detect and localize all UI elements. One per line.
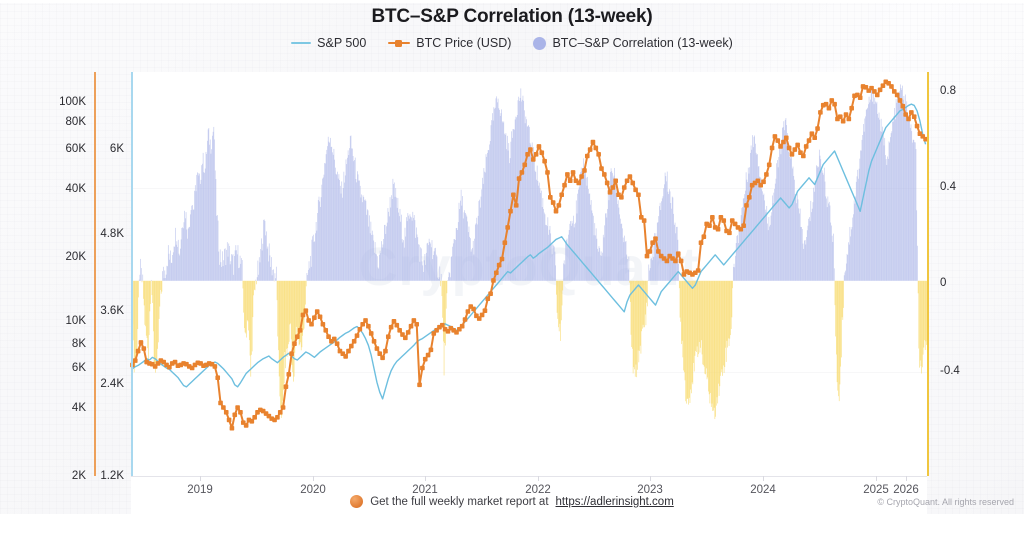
- correlation-bar: [538, 181, 539, 281]
- correlation-bar: [594, 235, 595, 281]
- correlation-bar: [739, 230, 740, 281]
- correlation-bar: [911, 124, 912, 280]
- correlation-bar: [256, 281, 257, 284]
- correlation-bar: [769, 217, 770, 281]
- correlation-bar: [695, 281, 696, 351]
- promo-link[interactable]: https://adlerinsight.com: [556, 496, 674, 508]
- correlation-bar: [651, 259, 652, 281]
- correlation-bar: [708, 281, 709, 392]
- btc-price-marker: [485, 296, 490, 301]
- x-axis-tick-mark: [650, 476, 651, 481]
- correlation-bar: [570, 221, 571, 281]
- correlation-bar: [623, 238, 624, 281]
- correlation-bar: [767, 224, 768, 281]
- correlation-bar: [673, 214, 674, 281]
- correlation-bar: [906, 101, 907, 280]
- correlation-bar: [847, 255, 848, 281]
- correlation-bar: [702, 281, 703, 355]
- correlation-bar: [766, 212, 767, 281]
- correlation-bar: [701, 281, 702, 340]
- correlation-bar: [421, 248, 422, 280]
- btc-price-marker: [520, 170, 525, 175]
- correlation-bar: [508, 151, 509, 281]
- btc-price-marker: [406, 330, 411, 335]
- correlation-bar: [490, 141, 491, 281]
- correlation-bar: [874, 104, 875, 281]
- correlation-bar: [660, 210, 661, 281]
- correlation-bar: [335, 168, 336, 281]
- correlation-bar: [872, 102, 873, 281]
- correlation-bar: [471, 252, 472, 281]
- correlation-bar: [172, 263, 173, 281]
- correlation-bar: [810, 221, 811, 281]
- correlation-bar: [923, 281, 924, 355]
- correlation-bar: [318, 200, 319, 281]
- correlation-bar: [695, 281, 696, 356]
- correlation-bar: [455, 240, 456, 281]
- correlation-bar: [209, 145, 210, 281]
- correlation-bar: [359, 181, 360, 281]
- correlation-bar: [491, 125, 492, 281]
- correlation-bar: [729, 281, 730, 346]
- correlation-bar: [578, 190, 579, 281]
- correlation-bar: [826, 199, 827, 281]
- btc-price-marker: [602, 172, 607, 177]
- correlation-bar: [684, 281, 685, 372]
- x-axis-tick-mark: [200, 476, 201, 481]
- correlation-bar: [624, 236, 625, 281]
- correlation-bar: [412, 221, 413, 281]
- correlation-bar: [339, 180, 340, 281]
- correlation-bar: [722, 281, 723, 376]
- correlation-bar: [538, 186, 539, 281]
- correlation-bar: [904, 105, 905, 281]
- correlation-bar: [363, 197, 364, 281]
- btc-price-marker: [642, 218, 647, 223]
- btc-price-marker: [653, 236, 658, 241]
- correlation-bar: [163, 267, 164, 281]
- axis-tick-label: 2.4K: [84, 378, 124, 390]
- correlation-bar: [476, 223, 477, 280]
- correlation-bar: [319, 201, 320, 280]
- correlation-bar: [404, 248, 405, 281]
- correlation-bar: [463, 218, 464, 280]
- btc-price-marker: [747, 195, 752, 200]
- correlation-bar: [264, 220, 265, 281]
- btc-price-marker: [633, 188, 638, 193]
- correlation-bar: [424, 260, 425, 280]
- btc-price-marker: [531, 157, 536, 162]
- correlation-bar: [236, 250, 237, 281]
- correlation-bar: [402, 239, 403, 281]
- correlation-bar: [919, 281, 920, 368]
- correlation-bar: [314, 241, 315, 280]
- correlation-bar: [533, 147, 534, 281]
- btc-price-marker: [275, 415, 280, 420]
- correlation-bar: [881, 119, 882, 281]
- correlation-bar: [145, 281, 146, 325]
- correlation-bar: [558, 281, 559, 327]
- correlation-bar: [545, 214, 546, 280]
- correlation-bar: [329, 143, 330, 281]
- correlation-bar: [407, 221, 408, 281]
- correlation-bar: [454, 239, 455, 281]
- correlation-bar: [761, 178, 762, 280]
- correlation-bar: [551, 244, 552, 280]
- correlation-bar: [896, 99, 897, 281]
- correlation-bar: [760, 177, 761, 280]
- correlation-bar: [866, 110, 867, 281]
- correlation-bar: [294, 281, 295, 377]
- correlation-bar: [565, 264, 566, 280]
- correlation-bar: [699, 281, 700, 342]
- correlation-bar: [788, 152, 789, 281]
- correlation-bar: [867, 108, 868, 281]
- correlation-bar: [523, 101, 524, 281]
- correlation-bar: [307, 275, 308, 281]
- btc-price-marker: [696, 268, 701, 273]
- correlation-bar: [799, 213, 800, 280]
- btc-price-marker: [377, 351, 382, 356]
- correlation-bar: [560, 281, 561, 324]
- correlation-bar: [818, 167, 819, 281]
- btc-price-marker: [824, 102, 829, 107]
- correlation-bar: [545, 225, 546, 281]
- correlation-bar: [602, 253, 603, 281]
- correlation-bar: [203, 153, 204, 281]
- btc-price-marker: [380, 355, 385, 360]
- correlation-bar: [481, 189, 482, 280]
- correlation-bar: [304, 281, 305, 313]
- correlation-bar: [755, 144, 756, 281]
- btc-price-marker: [841, 119, 846, 124]
- correlation-bar: [496, 96, 497, 280]
- btc-price-marker: [622, 185, 627, 190]
- correlation-bar: [171, 263, 172, 281]
- correlation-bar: [577, 194, 578, 281]
- correlation-bar: [644, 281, 645, 327]
- correlation-bar: [674, 225, 675, 281]
- correlation-bar: [713, 281, 714, 411]
- correlation-bar: [748, 168, 749, 281]
- x-axis-tick-mark: [763, 476, 764, 481]
- correlation-bar: [689, 281, 690, 398]
- correlation-bar: [395, 188, 396, 281]
- btc-price-marker: [213, 364, 218, 369]
- correlation-bar: [570, 224, 571, 281]
- correlation-bar: [781, 154, 782, 281]
- correlation-bar: [343, 188, 344, 281]
- btc-price-marker: [397, 328, 402, 333]
- correlation-bar: [641, 281, 642, 354]
- correlation-bar: [886, 165, 887, 281]
- correlation-bar: [712, 281, 713, 404]
- correlation-bar: [633, 281, 634, 374]
- btc-price-marker: [417, 383, 422, 388]
- correlation-bar: [923, 281, 924, 348]
- btc-price-marker: [522, 162, 527, 167]
- correlation-bar: [469, 227, 470, 281]
- correlation-bar: [472, 248, 473, 281]
- correlation-bar: [549, 230, 550, 281]
- correlation-bar: [412, 212, 413, 281]
- correlation-bar: [438, 279, 439, 281]
- correlation-bar: [193, 210, 194, 281]
- btc-price-marker: [565, 172, 570, 177]
- correlation-bar: [793, 167, 794, 281]
- correlation-bar: [408, 216, 409, 281]
- correlation-bar: [920, 281, 921, 361]
- correlation-bar: [812, 209, 813, 281]
- correlation-bar: [322, 179, 323, 281]
- correlation-bar: [429, 239, 430, 281]
- btc-price-marker: [250, 419, 255, 424]
- btc-price-marker: [503, 240, 508, 245]
- correlation-bar: [348, 155, 349, 281]
- btc-price-marker: [366, 324, 371, 329]
- btc-price-marker: [514, 203, 519, 208]
- btc-price-marker: [605, 181, 610, 186]
- correlation-bar: [906, 107, 907, 281]
- correlation-bar: [156, 281, 157, 369]
- correlation-bar: [735, 256, 736, 281]
- correlation-bar: [397, 208, 398, 281]
- correlation-bar: [168, 245, 169, 281]
- btc-price-marker: [576, 181, 581, 186]
- correlation-bar: [680, 281, 681, 318]
- correlation-bar: [596, 228, 597, 280]
- correlation-bar: [354, 160, 355, 281]
- correlation-bar: [705, 281, 706, 374]
- correlation-bar: [225, 248, 226, 280]
- correlation-bar: [635, 281, 636, 377]
- correlation-bar: [790, 148, 791, 281]
- correlation-bar: [601, 256, 602, 281]
- correlation-bar: [160, 281, 161, 290]
- correlation-bar: [443, 281, 444, 342]
- correlation-bar: [167, 266, 168, 281]
- btc-price-marker: [284, 384, 289, 389]
- btc-price-marker: [440, 323, 445, 328]
- btc-price-marker: [227, 418, 232, 423]
- correlation-bar: [828, 197, 829, 281]
- correlation-bar: [669, 189, 670, 281]
- correlation-bar: [768, 230, 769, 281]
- correlation-bar: [725, 281, 726, 348]
- correlation-bar: [336, 175, 337, 281]
- correlation-bar: [782, 128, 783, 281]
- correlation-bar: [280, 281, 281, 397]
- correlation-bar: [139, 280, 140, 281]
- correlation-bar: [299, 281, 300, 344]
- correlation-bar: [449, 272, 450, 281]
- correlation-bar: [285, 281, 286, 352]
- correlation-bar: [715, 281, 716, 419]
- correlation-bar: [254, 281, 255, 290]
- btc-price-marker: [352, 339, 357, 344]
- correlation-bar: [315, 233, 316, 280]
- correlation-bar: [406, 217, 407, 281]
- correlation-bar: [245, 281, 246, 334]
- correlation-bar: [351, 136, 352, 281]
- correlation-bar: [847, 254, 848, 281]
- correlation-bar: [173, 252, 174, 280]
- correlation-bar: [459, 209, 460, 281]
- correlation-bar: [159, 281, 160, 319]
- correlation-bar: [480, 208, 481, 281]
- btc-price-marker: [898, 98, 903, 103]
- btc-price-marker: [383, 349, 388, 354]
- btc-price-marker: [702, 234, 707, 239]
- correlation-bar: [142, 275, 143, 281]
- axis-tick-label: 40K: [40, 183, 86, 195]
- correlation-bar: [145, 281, 146, 326]
- correlation-bar: [300, 281, 301, 342]
- copyright-notice: © CryptoQuant. All rights reserved: [877, 497, 1014, 507]
- axis-tick-label: -0.4: [940, 365, 960, 377]
- correlation-bar: [833, 234, 834, 281]
- btc-price-marker: [349, 344, 354, 349]
- correlation-bar: [425, 265, 426, 281]
- correlation-bar: [836, 281, 837, 355]
- correlation-bar: [791, 157, 792, 281]
- correlation-bar: [188, 229, 189, 281]
- correlation-bar: [889, 143, 890, 281]
- correlation-bar: [403, 240, 404, 281]
- correlation-bar: [727, 281, 728, 341]
- correlation-bar: [458, 222, 459, 281]
- correlation-bar: [310, 256, 311, 281]
- correlation-bar: [636, 281, 637, 365]
- correlation-bar: [261, 238, 262, 280]
- correlation-bar: [232, 255, 233, 280]
- correlation-bar: [265, 221, 266, 281]
- correlation-bar: [820, 159, 821, 281]
- chart-page: CryptoQuant BTC–S&P Correlation (13-week…: [0, 0, 1024, 516]
- correlation-bar: [734, 267, 735, 281]
- correlation-bar: [148, 281, 149, 359]
- correlation-bar: [666, 181, 667, 280]
- correlation-bar: [329, 142, 330, 281]
- correlation-bar: [733, 267, 734, 281]
- correlation-bar: [901, 88, 902, 281]
- correlation-bar: [667, 172, 668, 281]
- correlation-bar: [165, 278, 166, 281]
- correlation-bar: [697, 281, 698, 357]
- correlation-bar: [688, 281, 689, 405]
- correlation-bar: [395, 197, 396, 281]
- correlation-bar: [880, 131, 881, 281]
- correlation-bar: [368, 227, 369, 281]
- correlation-bar: [729, 281, 730, 339]
- correlation-bar: [628, 270, 629, 281]
- correlation-bar: [717, 281, 718, 397]
- correlation-bar: [319, 197, 320, 281]
- correlation-bar: [523, 96, 524, 281]
- btc-price-marker: [369, 331, 374, 336]
- correlation-bar: [142, 281, 143, 283]
- correlation-bar: [369, 215, 370, 280]
- correlation-bar: [265, 235, 266, 280]
- correlation-bar: [211, 149, 212, 281]
- correlation-bar: [402, 242, 403, 280]
- correlation-bar: [817, 166, 818, 281]
- correlation-bar: [175, 228, 176, 281]
- btc-price-marker: [608, 190, 613, 195]
- correlation-bar: [696, 281, 697, 352]
- correlation-bar: [697, 281, 698, 347]
- correlation-bar: [898, 92, 899, 280]
- correlation-bar: [844, 275, 845, 281]
- correlation-bar: [595, 235, 596, 280]
- correlation-bar: [222, 251, 223, 280]
- correlation-bar: [631, 281, 632, 335]
- correlation-bar: [375, 242, 376, 281]
- correlation-bar: [770, 225, 771, 281]
- correlation-bar: [388, 212, 389, 281]
- correlation-bar: [189, 227, 190, 281]
- correlation-bar: [597, 249, 598, 281]
- correlation-bar: [410, 214, 411, 280]
- x-axis-tick-mark: [313, 476, 314, 481]
- correlation-bar: [436, 255, 437, 281]
- correlation-bar: [383, 244, 384, 280]
- correlation-bar: [720, 281, 721, 376]
- correlation-bar: [418, 244, 419, 281]
- correlation-bar: [164, 278, 165, 281]
- correlation-bar: [355, 158, 356, 281]
- correlation-bar: [379, 255, 380, 281]
- correlation-bar: [361, 197, 362, 280]
- correlation-bar: [751, 150, 752, 281]
- correlation-bar: [855, 197, 856, 281]
- correlation-bar: [918, 281, 919, 294]
- correlation-bar: [877, 114, 878, 281]
- correlation-bar: [259, 257, 260, 281]
- correlation-bar: [605, 213, 606, 280]
- correlation-bar: [793, 176, 794, 281]
- correlation-bar: [800, 227, 801, 281]
- correlation-bar: [205, 169, 206, 281]
- correlation-bar: [565, 243, 566, 281]
- correlation-bar: [872, 90, 873, 280]
- correlation-bar: [466, 215, 467, 281]
- correlation-bar: [468, 232, 469, 281]
- correlation-bar: [524, 110, 525, 280]
- correlation-bar: [269, 243, 270, 280]
- correlation-bar: [137, 281, 138, 329]
- btc-price-marker: [488, 291, 493, 296]
- correlation-bar: [648, 280, 649, 281]
- correlation-bar: [244, 281, 245, 328]
- correlation-bar: [907, 118, 908, 281]
- axis-tick-label: 10K: [40, 315, 86, 327]
- correlation-bar: [326, 150, 327, 281]
- btc-price-marker: [238, 410, 243, 415]
- correlation-bar: [258, 275, 259, 281]
- correlation-bar: [834, 268, 835, 280]
- correlation-bar: [908, 120, 909, 280]
- correlation-bar: [464, 212, 465, 280]
- correlation-bar: [714, 281, 715, 408]
- correlation-bar: [646, 281, 647, 325]
- correlation-bar: [290, 281, 291, 324]
- correlation-bar: [532, 142, 533, 280]
- correlation-bar: [737, 235, 738, 281]
- correlation-bar: [813, 202, 814, 281]
- correlation-bar: [873, 94, 874, 281]
- correlation-bar: [824, 168, 825, 281]
